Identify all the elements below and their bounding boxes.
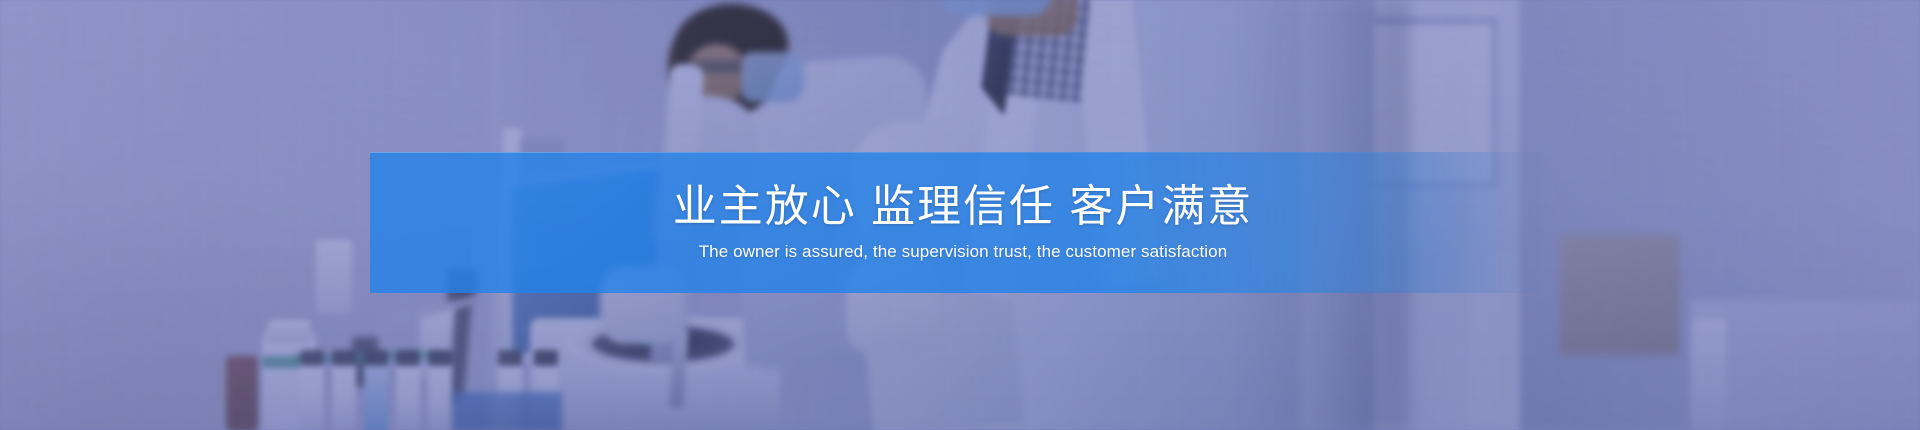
slogan-block: 业主放心 监理信任 客户满意 The owner is assured, the… xyxy=(0,152,1920,293)
slogan-headline-chinese: 业主放心 监理信任 客户满意 xyxy=(673,183,1253,231)
hero-banner: 业主放心 监理信任 客户满意 The owner is assured, the… xyxy=(0,0,1920,430)
slogan-subline-english: The owner is assured, the supervision tr… xyxy=(699,242,1228,262)
